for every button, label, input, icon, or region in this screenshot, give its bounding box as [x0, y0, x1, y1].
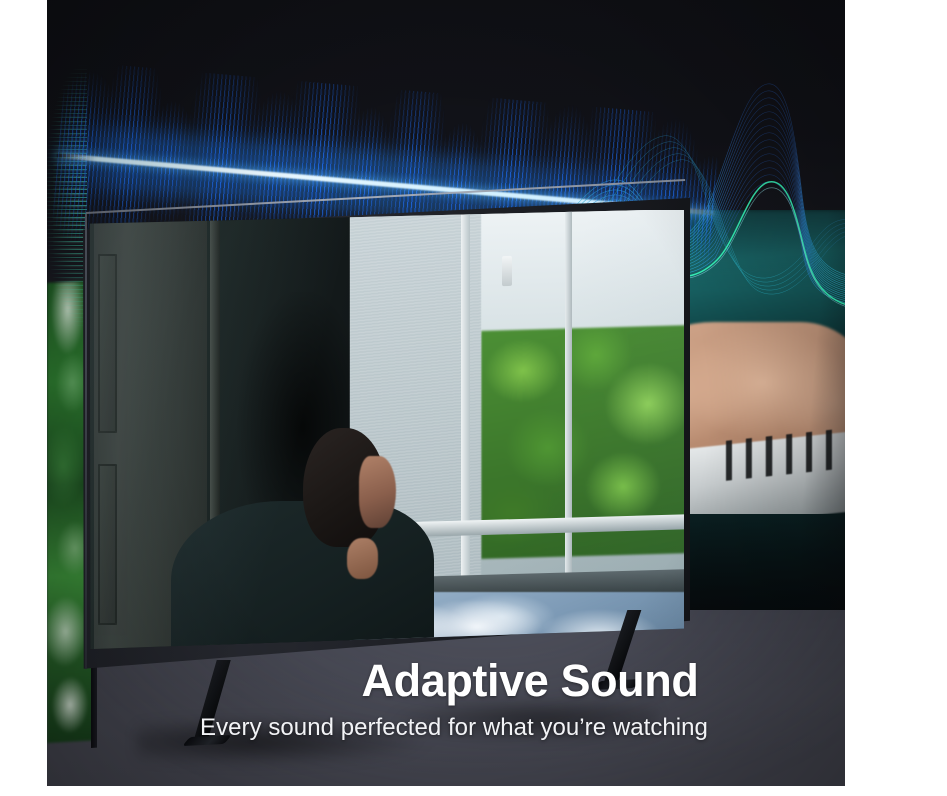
headline-text: Adaptive Sound	[362, 657, 699, 704]
left-margin	[0, 0, 47, 796]
page-title: Adaptive Sound	[47, 657, 845, 704]
page-subtitle: Every sound perfected for what you’re wa…	[47, 714, 845, 742]
right-margin	[845, 0, 947, 796]
subheadline-text: Every sound perfected for what you’re wa…	[200, 714, 708, 742]
promo-banner: Adaptive Sound Every sound perfected for…	[0, 0, 947, 796]
bottom-margin	[0, 786, 947, 796]
product-photo: Adaptive Sound Every sound perfected for…	[47, 0, 845, 786]
